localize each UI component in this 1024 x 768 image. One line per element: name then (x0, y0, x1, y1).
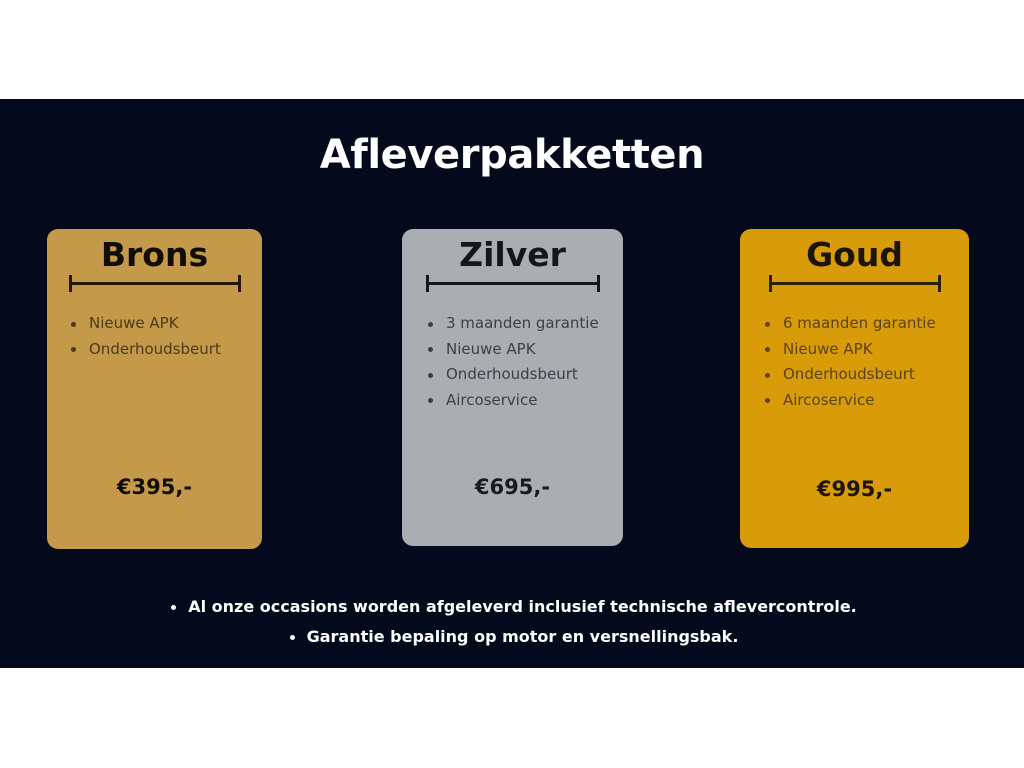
package-features-silver: 3 maanden garantie Nieuwe APK Onderhouds… (402, 311, 623, 413)
package-title-silver: Zilver (402, 235, 623, 275)
divider-cap-right (938, 275, 941, 292)
divider-cap-right (238, 275, 241, 292)
package-header-bronze: Brons (47, 229, 262, 291)
page-title: Afleverpakketten (0, 131, 1024, 179)
list-item: Onderhoudsbeurt (420, 362, 623, 388)
package-price-silver: €695,- (402, 474, 623, 500)
package-price-gold: €995,- (740, 476, 969, 502)
footer-note-row: Al onze occasions worden afgeleverd incl… (0, 592, 1024, 622)
footer-note: Al onze occasions worden afgeleverd incl… (167, 592, 857, 622)
package-features-gold: 6 maanden garantie Nieuwe APK Onderhouds… (740, 311, 969, 413)
list-item: 3 maanden garantie (420, 311, 623, 337)
dimension-line-divider-icon (769, 275, 941, 291)
dimension-line-divider-icon (426, 275, 600, 291)
package-title-gold: Goud (740, 235, 969, 275)
package-header-gold: Goud (740, 229, 969, 291)
list-item: Nieuwe APK (757, 337, 969, 363)
divider-bar (769, 282, 941, 285)
footer-notes: Al onze occasions worden afgeleverd incl… (0, 592, 1024, 652)
slide-canvas: Afleverpakketten Brons Nieuwe APK Onderh… (0, 0, 1024, 768)
dimension-line-divider-icon (69, 275, 241, 291)
list-item: Onderhoudsbeurt (63, 337, 262, 363)
list-item: Nieuwe APK (420, 337, 623, 363)
package-price-bronze: €395,- (47, 474, 262, 500)
divider-bar (69, 282, 241, 285)
list-item: Aircoservice (420, 388, 623, 414)
list-item: Nieuwe APK (63, 311, 262, 337)
package-card-gold[interactable]: Goud 6 maanden garantie Nieuwe APK Onder… (740, 229, 969, 548)
package-card-bronze[interactable]: Brons Nieuwe APK Onderhoudsbeurt €395,- (47, 229, 262, 549)
package-header-silver: Zilver (402, 229, 623, 291)
package-card-silver[interactable]: Zilver 3 maanden garantie Nieuwe APK Ond… (402, 229, 623, 546)
divider-cap-right (597, 275, 600, 292)
divider-bar (426, 282, 600, 285)
list-item: Aircoservice (757, 388, 969, 414)
footer-note-row: Garantie bepaling op motor en versnellin… (0, 622, 1024, 652)
list-item: 6 maanden garantie (757, 311, 969, 337)
package-features-bronze: Nieuwe APK Onderhoudsbeurt (47, 311, 262, 362)
footer-note: Garantie bepaling op motor en versnellin… (286, 622, 739, 652)
package-title-bronze: Brons (47, 235, 262, 275)
list-item: Onderhoudsbeurt (757, 362, 969, 388)
